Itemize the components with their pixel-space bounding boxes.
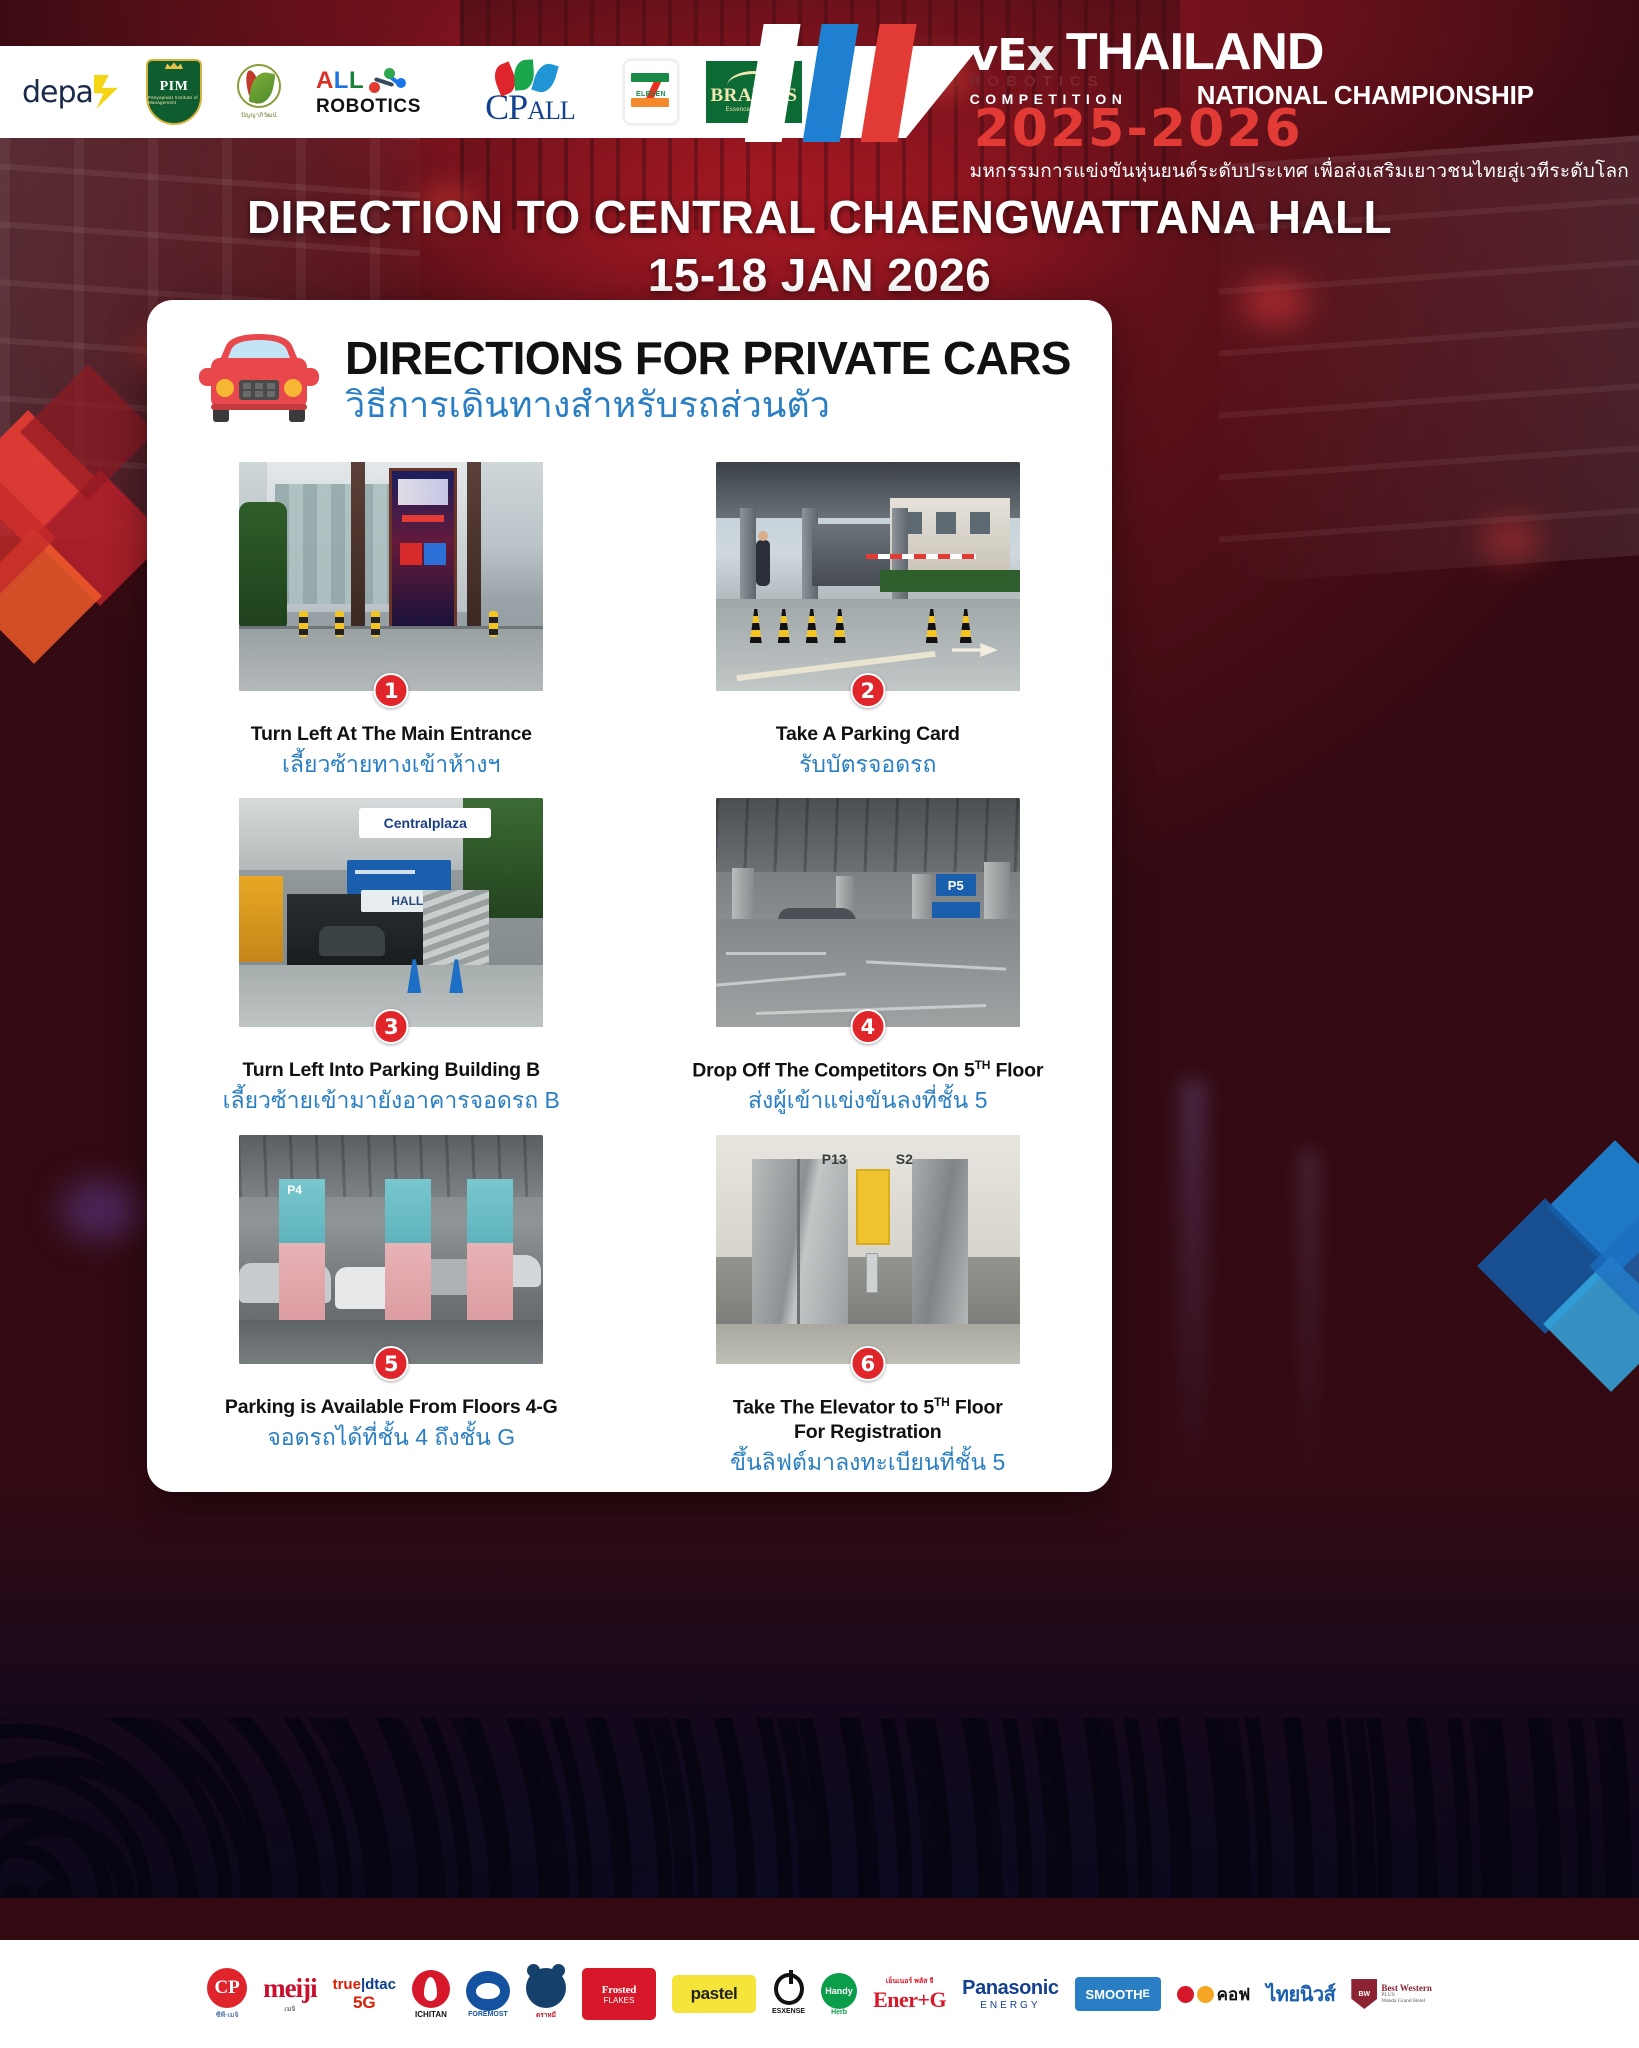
- panyapiwat-label: ปัญญาภิวัฒน์: [241, 110, 277, 120]
- step-caption-en: Take The Elevator to 5TH FloorFor Regist…: [733, 1395, 1003, 1445]
- handy-label: Handy: [821, 1973, 857, 2009]
- bear-brand-sub: ตราหมี: [536, 2010, 556, 2020]
- background-crowd-silhouette: [0, 1718, 1639, 1898]
- parked-cars-pillars-photo: P4: [239, 1135, 543, 1364]
- step-caption-en: Parking is Available From Floors 4-G: [225, 1395, 558, 1420]
- energ-label: Ener+G: [873, 1987, 946, 2013]
- vex-wordmark: vEx: [970, 36, 1054, 76]
- card-title-th: วิธีการเดินทางสำหรับรถส่วนตัว: [345, 385, 1071, 425]
- frosted-label: Frosted: [602, 1984, 636, 1996]
- sponsor-logo-panasonic: Panasonic ENERGY: [962, 1964, 1058, 2024]
- step-number-badge: 2: [850, 673, 885, 708]
- sponsor-logo-depa: depa: [22, 59, 118, 125]
- meiji-label: meiji: [263, 1973, 316, 2004]
- sponsor-logo-seven-eleven: 7 ELEVEN: [624, 59, 678, 125]
- step-photo-wrap: P13 S2 6: [716, 1135, 1020, 1364]
- sponsor-logo-best-western-plus: BW Best Western PLUS Wanda Grand Hotel: [1351, 1964, 1432, 2024]
- robotics-label: ROBOTICS: [970, 74, 1185, 89]
- step-caption-en: Turn Left At The Main Entrance: [251, 722, 532, 747]
- cp-label: CP: [207, 1968, 247, 2008]
- panasonic-label: Panasonic: [962, 1977, 1058, 2000]
- cpall-flame-icon: [495, 60, 565, 90]
- step-item: 1 Turn Left At The Main Entrance เลี้ยวซ…: [181, 462, 602, 778]
- energ-sub: เอ็นเนอร์ พลัส จี: [886, 1976, 934, 1987]
- kofe-dot-icon: [1197, 1986, 1214, 2003]
- esxense-ring-icon: [774, 1973, 804, 2005]
- allro-l1: L: [334, 67, 349, 94]
- sponsor-logo-smooth-e: SMOOTHE: [1075, 1964, 1161, 2024]
- sponsor-logo-handy-herb: Handy Herb: [821, 1964, 857, 2024]
- page-title: DIRECTION TO CENTRAL CHAENGWATTANA HALL …: [0, 190, 1639, 302]
- sponsor-logo-foremost: FOREMOST: [466, 1964, 510, 2024]
- vex-thailand-logo: vEx THAILAND ROBOTICS COMPETITION NATION…: [745, 24, 1629, 186]
- sponsor-logo-cpall: CPALL: [464, 59, 596, 125]
- title-line-2: 15-18 JAN 2026: [0, 248, 1639, 302]
- directions-card: DIRECTIONS FOR PRIVATE CARS วิธีการเดินท…: [147, 300, 1112, 1492]
- foremost-label: FOREMOST: [468, 2011, 508, 2018]
- sponsor-logo-frosted-flakes: Frosted FLAKES: [582, 1964, 656, 2024]
- step-number-badge: 5: [374, 1346, 409, 1381]
- thailand-wordmark: THAILAND: [1066, 30, 1324, 76]
- thainews-label: ไทยนิวส์: [1266, 1978, 1335, 2010]
- step-caption-en: Take A Parking Card: [776, 722, 960, 747]
- flakes-label: FLAKES: [604, 1996, 635, 2005]
- elevator-lobby-photo: P13 S2: [716, 1135, 1020, 1364]
- allro-l2: L: [349, 67, 364, 94]
- dtac-label: |dtac: [361, 1976, 396, 1993]
- bottom-sponsor-bar: CP ซีพี-เมจิ meiji เมจิ true|dtac 5G ICH…: [0, 1940, 1639, 2048]
- fivegee-label: 5G: [353, 1994, 376, 2011]
- step-caption-th: ส่งผู้เข้าแข่งขันลงที่ชั้น 5: [748, 1086, 987, 1115]
- panasonic-sub: ENERGY: [980, 2000, 1040, 2011]
- step-item: Centralplaza HALL 3 Turn Left Into Parki…: [181, 798, 602, 1115]
- years-label: 2025-2026: [974, 106, 1303, 154]
- step-number-badge: 6: [850, 1346, 885, 1381]
- sponsor-logo-bear-brand: ตราหมี: [526, 1964, 566, 2024]
- step-photo-wrap: P5 4: [716, 798, 1020, 1027]
- eleven-label: ELEVEN: [625, 91, 677, 98]
- sponsor-logo-pim: PIM Panyapiwat Institute of Management: [146, 59, 202, 125]
- bear-icon: [526, 1968, 566, 2008]
- mall-main-entrance-photo: [239, 462, 543, 691]
- herb-label: Herb: [831, 2009, 847, 2016]
- sponsor-logo-all-robotics: ALL ROBOTICS: [316, 59, 436, 125]
- kofe-dot-icon: [1177, 1986, 1194, 2003]
- step-caption-th: ขึ้นลิฟต์มาลงทะเบียนที่ชั้น 5: [730, 1448, 1005, 1477]
- card-header: DIRECTIONS FOR PRIVATE CARS วิธีการเดินท…: [181, 328, 1078, 432]
- sponsor-logo-panyapiwat: ปัญญาภิวัฒน์: [230, 59, 288, 125]
- steps-grid: 1 Turn Left At The Main Entrance เลี้ยวซ…: [181, 462, 1078, 1477]
- smooth-e-label: E: [1143, 1988, 1150, 2000]
- cp-sub: ซีพี-เมจิ: [216, 2010, 239, 2021]
- leaf-icon: [237, 64, 281, 108]
- central-plaza-parking-entrance-photo: Centralplaza HALL: [239, 798, 543, 1027]
- step-number-badge: 3: [374, 1009, 409, 1044]
- title-line-1: DIRECTION TO CENTRAL CHAENGWATTANA HALL: [0, 190, 1639, 244]
- foremost-mark-icon: [466, 1971, 510, 2011]
- allro-robotics-label: ROBOTICS: [316, 96, 421, 118]
- sponsor-logo-ichitan: ICHITAN: [412, 1964, 450, 2024]
- step-photo-wrap: Centralplaza HALL 3: [239, 798, 543, 1027]
- sponsor-logo-esxense: ESXENSE: [772, 1964, 805, 2024]
- bw-sub2: Wanda Grand Hotel: [1381, 1999, 1432, 2005]
- step-item: P13 S2 6 Take The Elevator to 5TH FloorF…: [658, 1135, 1079, 1476]
- step-item: 2 Take A Parking Card รับบัตรจอดรถ: [658, 462, 1079, 778]
- allro-a: A: [316, 67, 334, 94]
- step-number-badge: 1: [374, 673, 409, 708]
- step-caption-th: เลี้ยวซ้ายเข้ามายังอาคารจอดรถ B: [223, 1086, 560, 1115]
- smooth-label: SMOOTH: [1085, 1987, 1142, 2002]
- step-photo-wrap: P4 5: [239, 1135, 543, 1364]
- depa-label: depa: [22, 75, 93, 110]
- step-photo-wrap: 1: [239, 462, 543, 691]
- step-photo-wrap: 2: [716, 462, 1020, 691]
- step-number-badge: 4: [850, 1009, 885, 1044]
- sponsor-logo-pastel: pastel: [672, 1964, 756, 2024]
- pim-label: PIM: [160, 79, 189, 95]
- pim-sub: Panyapiwat Institute of Management: [148, 95, 200, 105]
- ichitan-label: ICHITAN: [415, 2010, 447, 2019]
- vex-chevron-mark-icon: [745, 24, 960, 144]
- step-caption-th: จอดรถได้ที่ชั้น 4 ถึงชั้น G: [267, 1423, 515, 1452]
- step-caption-th: รับบัตรจอดรถ: [799, 750, 936, 779]
- pastel-label: pastel: [672, 1975, 756, 2013]
- cpall-label-sm: ALL: [527, 96, 575, 125]
- sponsor-logo-cp: CP ซีพี-เมจิ: [207, 1964, 247, 2024]
- step-caption-en: Turn Left Into Parking Building B: [243, 1058, 540, 1083]
- sponsor-logo-kofe: คอฟ: [1177, 1964, 1251, 2024]
- empty-parking-deck-photo: P5: [716, 798, 1020, 1027]
- sponsor-logo-thainews: ไทยนิวส์: [1266, 1964, 1335, 2024]
- true-label: true: [333, 1976, 361, 1993]
- molecule-icon: [367, 68, 407, 94]
- step-caption-en: Drop Off The Competitors On 5TH Floor: [692, 1058, 1043, 1083]
- step-caption-th: เลี้ยวซ้ายทางเข้าห้างฯ: [282, 750, 500, 779]
- esxense-label: ESXENSE: [772, 2008, 805, 2015]
- card-title-en: DIRECTIONS FOR PRIVATE CARS: [345, 334, 1071, 383]
- step-item: P4 5 Parking is Available From Floors 4-…: [181, 1135, 602, 1476]
- depa-bolt-icon: [94, 75, 118, 109]
- car-icon: [195, 328, 323, 432]
- sponsor-logo-true-dtac: true|dtac 5G: [333, 1964, 396, 2024]
- sponsor-logo-energ: เอ็นเนอร์ พลัส จี Ener+G: [873, 1964, 946, 2024]
- bw-crest-icon: BW: [1351, 1979, 1377, 2009]
- step-item: P5 4 Drop Off The Competitors On 5TH Flo…: [658, 798, 1079, 1115]
- thai-tagline: มหกรรมการแข่งขันหุ่นยนต์ระดับประเทศ เพื่…: [970, 156, 1629, 186]
- ichitan-mark-icon: [412, 1970, 450, 2008]
- parking-gate-booth-photo: [716, 462, 1020, 691]
- kofe-label: คอฟ: [1217, 1981, 1251, 2008]
- meiji-sub: เมจิ: [284, 2004, 295, 2015]
- sponsor-logo-meiji: meiji เมจิ: [263, 1964, 316, 2024]
